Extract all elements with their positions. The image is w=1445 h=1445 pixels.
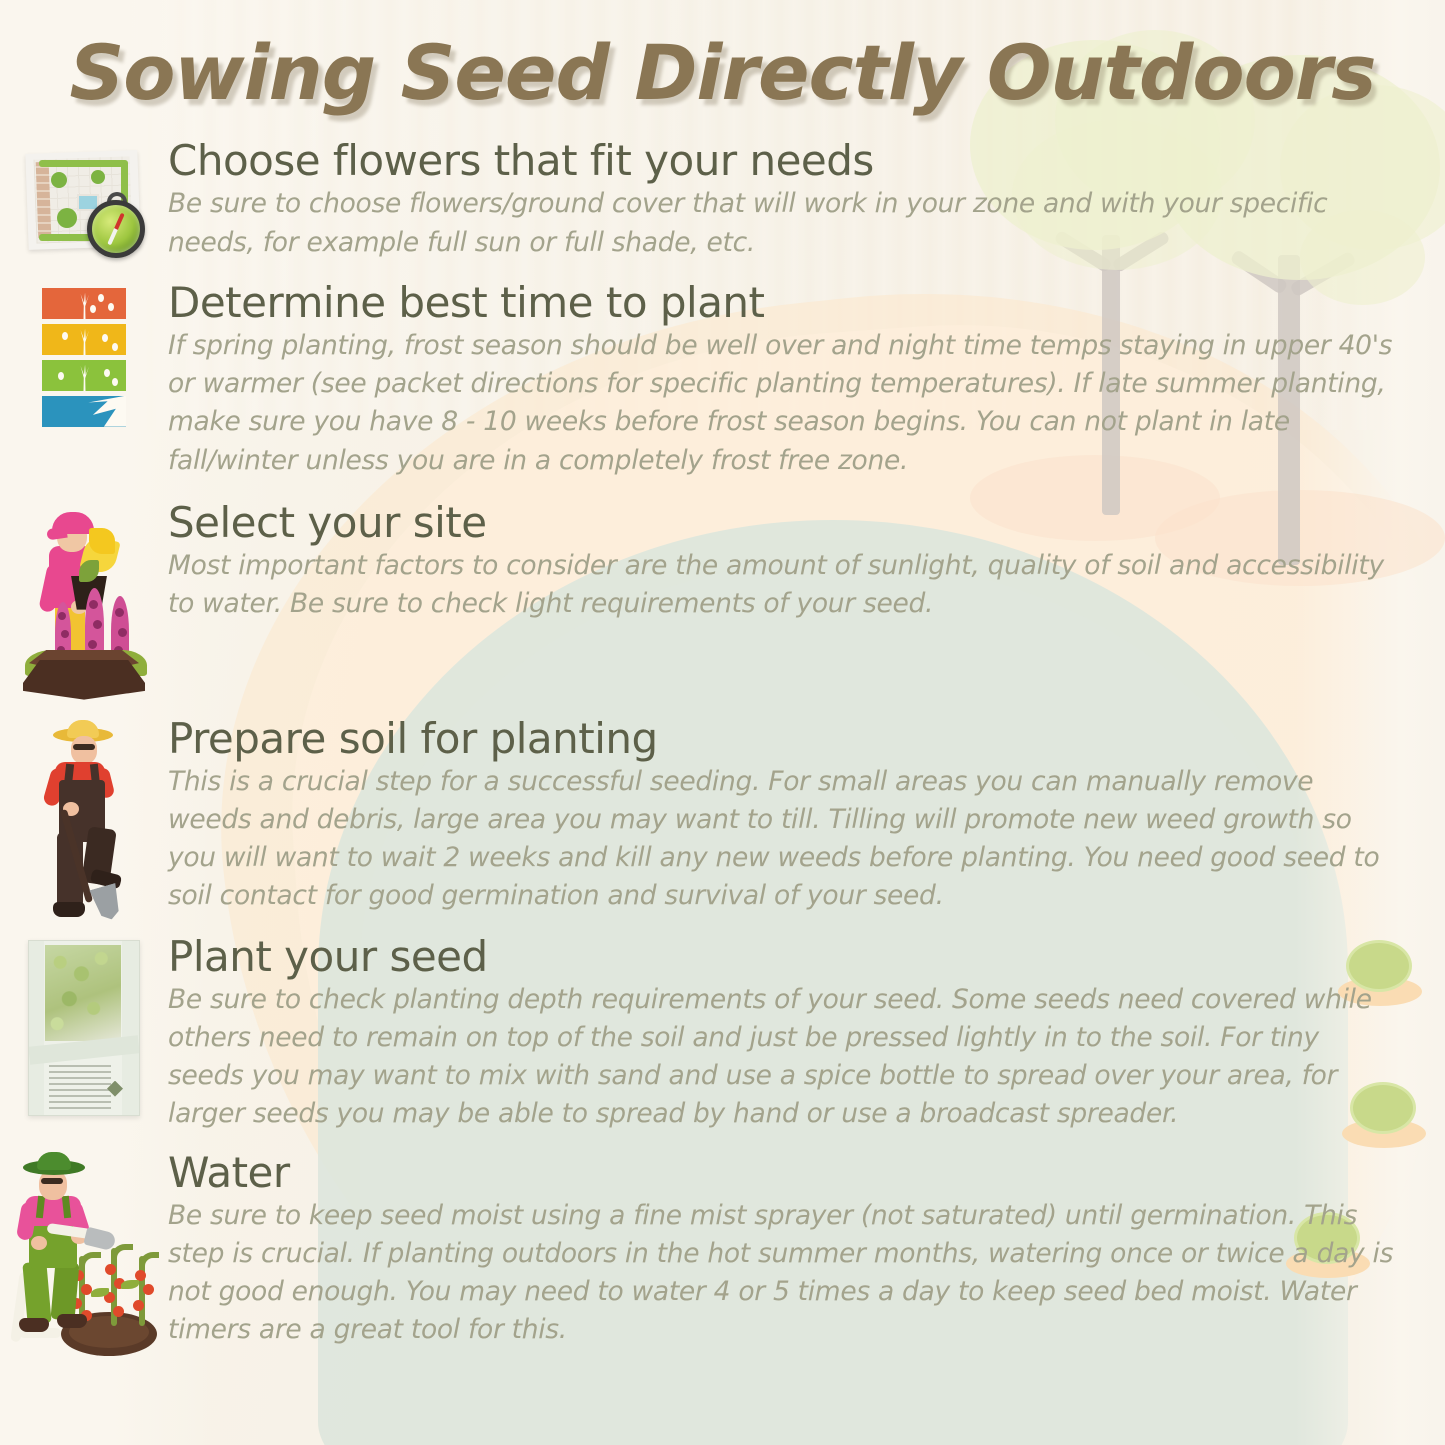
step-heading: Water — [168, 1150, 1399, 1195]
step-body: Be sure to check planting depth requirem… — [168, 981, 1399, 1134]
step-body: This is a crucial step for a successful … — [168, 763, 1399, 916]
step-text-container: Determine best time to plant If spring p… — [168, 280, 1445, 480]
gardener-watering-icon — [9, 1152, 159, 1362]
step-item-water: Water Be sure to keep seed moist using a… — [0, 1150, 1445, 1362]
step-body: Be sure to keep seed moist using a fine … — [168, 1197, 1399, 1350]
step-icon-container — [0, 1150, 168, 1362]
step-item-plant-seed: Plant your seed Be sure to check plantin… — [0, 934, 1445, 1134]
step-heading: Determine best time to plant — [168, 280, 1399, 325]
step-text-container: Select your site Most important factors … — [168, 500, 1445, 624]
step-text-container: Choose flowers that fit your needs Be su… — [168, 138, 1445, 262]
step-body: Most important factors to consider are t… — [168, 547, 1399, 623]
step-item-select-site: Select your site Most important factors … — [0, 500, 1445, 700]
step-text-container: Water Be sure to keep seed moist using a… — [168, 1150, 1445, 1350]
step-icon-container — [0, 280, 168, 432]
seed-packet-icon — [28, 940, 140, 1116]
step-item-prepare-soil: Prepare soil for planting This is a cruc… — [0, 716, 1445, 920]
step-item-choose-flowers: Choose flowers that fit your needs Be su… — [0, 138, 1445, 262]
step-body: If spring planting, frost season should … — [168, 327, 1399, 480]
step-text-container: Plant your seed Be sure to check plantin… — [168, 934, 1445, 1134]
garden-plan-compass-icon — [21, 146, 147, 258]
infographic-poster: Sowing Seed Directly Outdoors — [0, 0, 1445, 1445]
step-heading: Select your site — [168, 500, 1399, 545]
step-item-determine-time: Determine best time to plant If spring p… — [0, 280, 1445, 480]
step-body: Be sure to choose flowers/ground cover t… — [168, 185, 1399, 261]
step-icon-container — [0, 500, 168, 700]
gardener-with-potted-flower-icon — [19, 504, 149, 700]
gardener-digging-with-shovel-icon — [29, 720, 139, 920]
step-icon-container — [0, 716, 168, 920]
step-text-container: Prepare soil for planting This is a cruc… — [168, 716, 1445, 916]
step-icon-container — [0, 934, 168, 1116]
step-icon-container — [0, 138, 168, 258]
step-heading: Choose flowers that fit your needs — [168, 138, 1399, 183]
four-seasons-icon — [42, 288, 126, 432]
steps-list: Choose flowers that fit your needs Be su… — [0, 138, 1445, 1362]
page-title: Sowing Seed Directly Outdoors — [0, 28, 1445, 117]
step-heading: Prepare soil for planting — [168, 716, 1399, 761]
step-heading: Plant your seed — [168, 934, 1399, 979]
